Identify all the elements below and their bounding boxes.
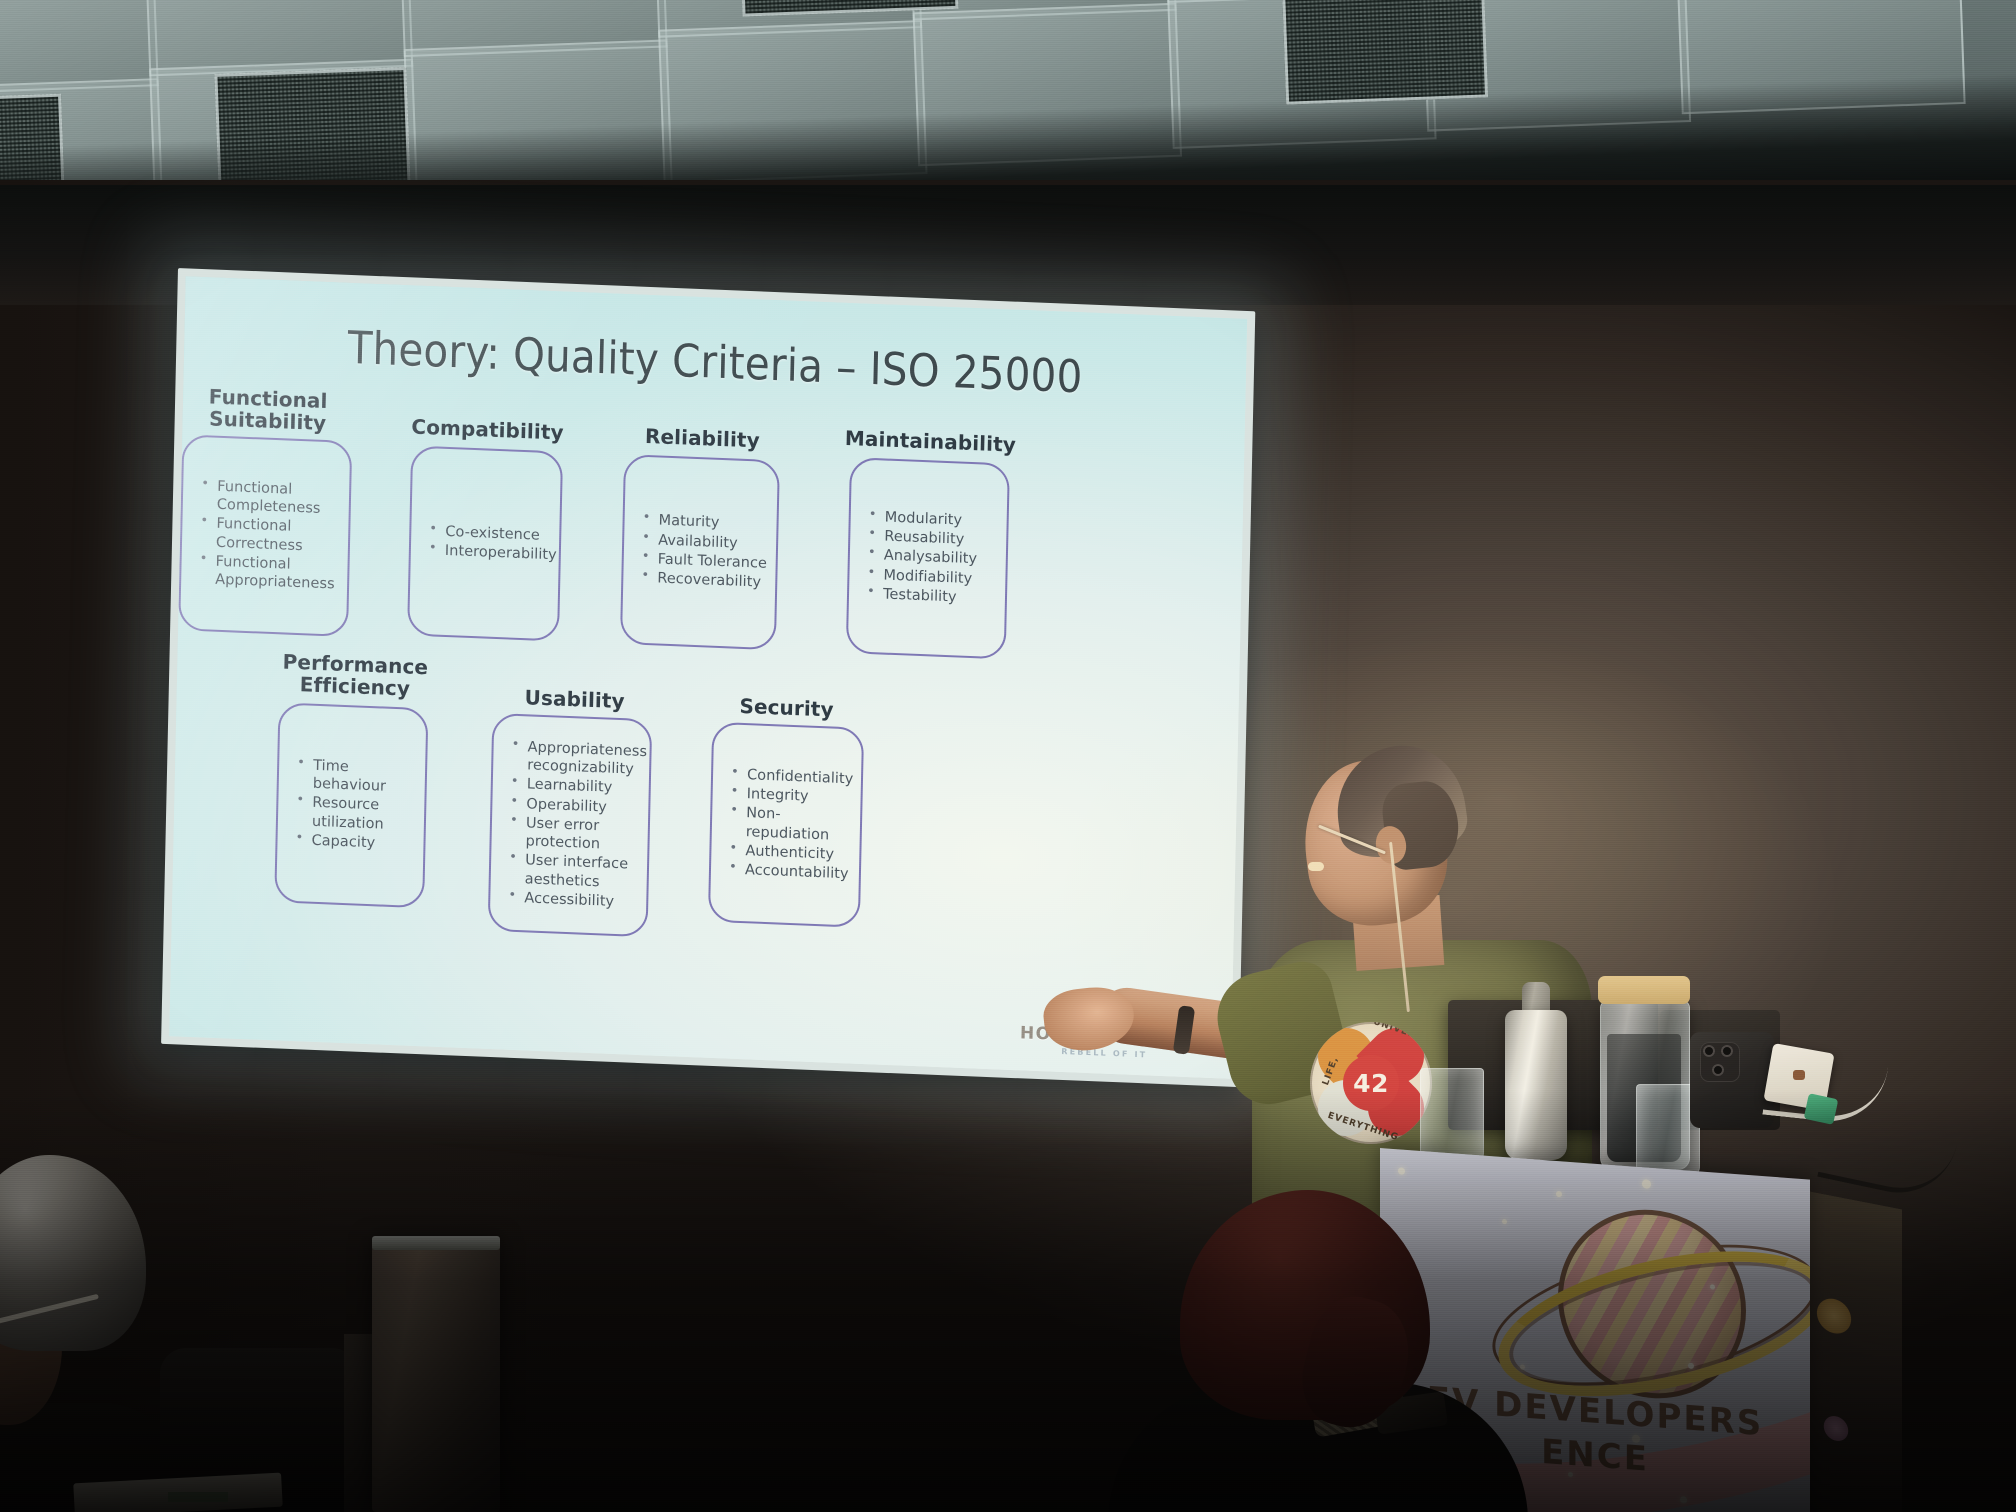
criteria-box: Confidentiality Integrity Non-repudiatio… <box>708 722 864 928</box>
criteria-box: Maturity Availability Fault Tolerance Re… <box>620 454 780 650</box>
criteria-title: Compatibility <box>387 415 587 445</box>
list-item: Appropriateness recognizability <box>509 737 647 779</box>
criteria-box: Time behaviour Resource utilization Capa… <box>274 702 428 908</box>
list-item: Capacity <box>293 831 415 854</box>
criteria-card-usability: Usability Appropriateness recognizabilit… <box>475 684 675 692</box>
bottle-cork-lid <box>1598 976 1690 1004</box>
criteria-card-maintainability: Maintainability Modularity Reusability A… <box>821 426 1041 435</box>
criteria-item-list: Maturity Availability Fault Tolerance Re… <box>623 511 777 594</box>
criteria-item-list: Modularity Reusability Analysability Mod… <box>849 507 1007 610</box>
criteria-title: Usability <box>475 684 675 714</box>
criteria-card-functional-suitability: Functional Suitability Functional Comple… <box>173 384 363 392</box>
criteria-title: Reliability <box>602 423 802 453</box>
clicker-button-icon[interactable] <box>1793 1070 1805 1080</box>
criteria-title: Maintainability <box>820 426 1040 457</box>
list-item: User error protection <box>507 813 645 855</box>
criteria-card-performance-efficiency: Performance Efficiency Time behaviour Re… <box>256 649 456 657</box>
criteria-box: Co-existence Interoperability <box>407 445 563 641</box>
list-item: Recoverability <box>639 569 767 592</box>
microphone-tip <box>1308 862 1324 871</box>
criteria-item-list: Functional Completeness Functional Corre… <box>181 476 349 595</box>
list-item: Functional Appropriateness <box>197 552 340 594</box>
logo-word: UNIVERSE <box>1372 1022 1431 1045</box>
criteria-box: Functional Completeness Functional Corre… <box>178 434 352 637</box>
criteria-card-compatibility: Compatibility Co-existence Interoperabil… <box>388 415 588 423</box>
list-item: Functional Completeness <box>199 477 342 519</box>
criteria-title: Performance Efficiency <box>255 649 456 702</box>
criteria-box: Modularity Reusability Analysability Mod… <box>846 457 1010 659</box>
ceiling-vent-icon <box>1281 0 1488 105</box>
room-floor-shadow <box>0 1090 2016 1512</box>
criteria-title: Functional Suitability <box>172 384 363 436</box>
criteria-item-list: Time behaviour Resource utilization Capa… <box>277 755 425 855</box>
criteria-grid: Functional Suitability Functional Comple… <box>170 384 1245 1066</box>
list-item: Interoperability <box>427 541 557 564</box>
phone-camera-icon <box>1700 1042 1740 1082</box>
logo-word: LIFE, <box>1321 1055 1341 1086</box>
criteria-title: Security <box>686 693 886 723</box>
criteria-item-list: Confidentiality Integrity Non-repudiatio… <box>711 765 862 886</box>
projection-screen: Theory: Quality Criteria – ISO 25000 Fun… <box>161 268 1255 1087</box>
list-item: Resource utilization <box>294 793 417 834</box>
list-item: Functional Correctness <box>198 514 341 556</box>
list-item: Testability <box>865 585 997 609</box>
criteria-item-list: Co-existence Interoperability <box>411 521 566 566</box>
photo-scene: Theory: Quality Criteria – ISO 25000 Fun… <box>0 0 2016 1512</box>
list-item: Time behaviour <box>295 756 418 797</box>
list-item: Accountability <box>727 860 852 883</box>
criteria-box: Appropriateness recognizability Learnabi… <box>488 713 653 937</box>
criteria-item-list: Appropriateness recognizability Learnabi… <box>490 737 655 914</box>
criteria-card-reliability: Reliability Maturity Availability Fault … <box>603 423 803 431</box>
list-item: User interface aesthetics <box>507 851 645 893</box>
list-item: Non-repudiation <box>728 804 853 846</box>
criteria-card-security: Security Confidentiality Integrity Non-r… <box>687 693 887 701</box>
presentation-slide: Theory: Quality Criteria – ISO 25000 Fun… <box>169 276 1247 1078</box>
